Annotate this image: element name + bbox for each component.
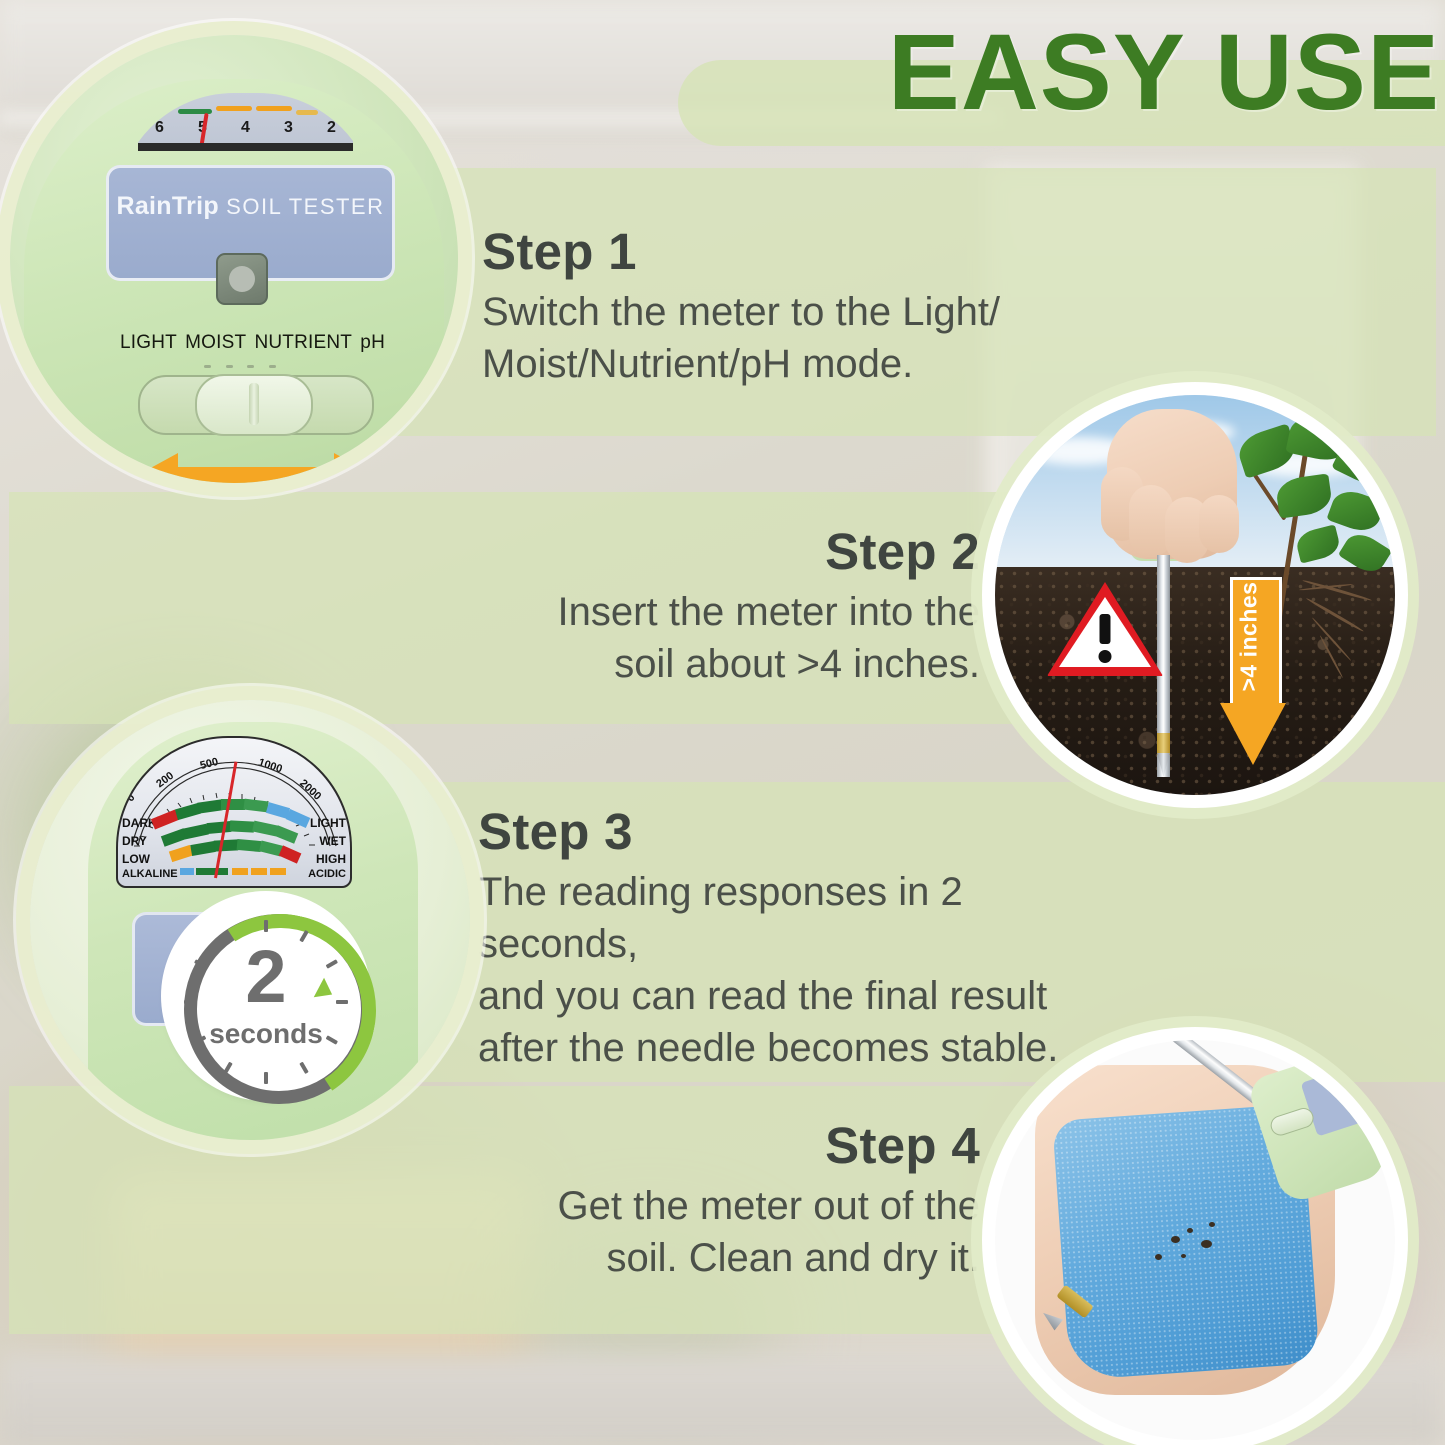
step-2-line-2: soil about >4 inches. [470, 638, 980, 690]
step-1-image: 6 5 4 3 2 RainTrip SOIL TESTER LIGHT MOI… [10, 35, 458, 483]
timer-unit: seconds [168, 1018, 364, 1050]
step-3-line-1: The reading responses in 2 seconds, [478, 866, 1078, 970]
top-dial-number: 2 [327, 119, 336, 137]
mode-label-light: LIGHT [120, 332, 177, 354]
step-3-image: 0 200 500 1000 2000 [30, 700, 470, 1140]
step-4-body: Get the meter out of the soil. Clean and… [470, 1180, 980, 1284]
top-dial-number: 4 [241, 119, 250, 137]
step-2-body: Insert the meter into the soil about >4 … [470, 586, 980, 690]
top-dial-number: 3 [284, 119, 293, 137]
page-title: EASY USE [700, 12, 1440, 132]
top-dial-numbers: 6 5 4 3 2 [138, 119, 353, 137]
slider-ticks [204, 365, 276, 368]
meter-gauge: 0 200 500 1000 2000 [116, 736, 352, 888]
step-3-line-3: after the needle becomes stable. [478, 1022, 1078, 1074]
gauge-label-dry: DRY [122, 834, 147, 848]
step-2-image: >4 inches [995, 395, 1395, 795]
step-4-line-2: soil. Clean and dry it. [470, 1232, 980, 1284]
top-dial-number: 6 [155, 119, 164, 137]
step-3-line-2: and you can read the final result [478, 970, 1078, 1022]
brand-name: RainTrip [117, 192, 219, 220]
step-2-text: Step 2 Insert the meter into the soil ab… [470, 522, 980, 690]
gauge-label-light: LIGHT [310, 816, 346, 830]
gauge-label-low: LOW [122, 852, 150, 866]
top-dial: 6 5 4 3 2 [138, 93, 353, 151]
step-1-line-2: Moist/Nutrient/pH mode. [482, 338, 1042, 390]
gauge-label-wet: WET [319, 834, 346, 848]
step-4-text: Step 4 Get the meter out of the soil. Cl… [470, 1116, 980, 1284]
slider-knob[interactable] [195, 374, 313, 436]
hand-holding-meter [1107, 409, 1237, 559]
step-1-body: Switch the meter to the Light/ Moist/Nut… [482, 286, 1042, 390]
step-1-text: Step 1 Switch the meter to the Light/ Mo… [482, 222, 1042, 390]
step-2-line-1: Insert the meter into the [470, 586, 980, 638]
double-arrow-icon [136, 453, 376, 483]
step-4-image [995, 1040, 1395, 1440]
mode-labels: LIGHT MOIST NUTRIENT pH [120, 332, 385, 354]
product-name: SOIL TESTER [226, 194, 384, 219]
step-4-line-1: Get the meter out of the [470, 1180, 980, 1232]
timer-icon: 2 seconds [168, 898, 364, 1094]
gauge-label-alkaline: ALKALINE [122, 868, 178, 880]
meter-probe-4 [1035, 1136, 1343, 1351]
depth-label: >4 inches [1236, 572, 1263, 702]
step-3-body: The reading responses in 2 seconds, and … [478, 866, 1078, 1074]
step-3-title: Step 3 [478, 802, 1078, 862]
step-2-title: Step 2 [470, 522, 980, 582]
sensor-button[interactable] [216, 253, 268, 305]
depth-arrow: >4 inches [1220, 577, 1286, 767]
warning-triangle-icon [1047, 580, 1163, 680]
mode-label-ph: pH [360, 332, 385, 354]
brand-label: RainTrip SOIL TESTER [109, 192, 392, 221]
mode-slider-switch[interactable] [138, 375, 374, 435]
step-1-title: Step 1 [482, 222, 1042, 282]
gauge-label-high: HIGH [316, 852, 346, 866]
step-4-title: Step 4 [470, 1116, 980, 1176]
gauge-label-acidic: ACIDIC [308, 868, 346, 880]
infographic-root: EASY USE Step 1 Switch the meter to the … [0, 0, 1445, 1445]
mode-label-nutrient: NUTRIENT [254, 332, 352, 354]
step-1-line-1: Switch the meter to the Light/ [482, 286, 1042, 338]
timer-value: 2 [168, 940, 364, 1014]
mode-label-moist: MOIST [185, 332, 246, 354]
step-3-text: Step 3 The reading responses in 2 second… [478, 802, 1078, 1074]
